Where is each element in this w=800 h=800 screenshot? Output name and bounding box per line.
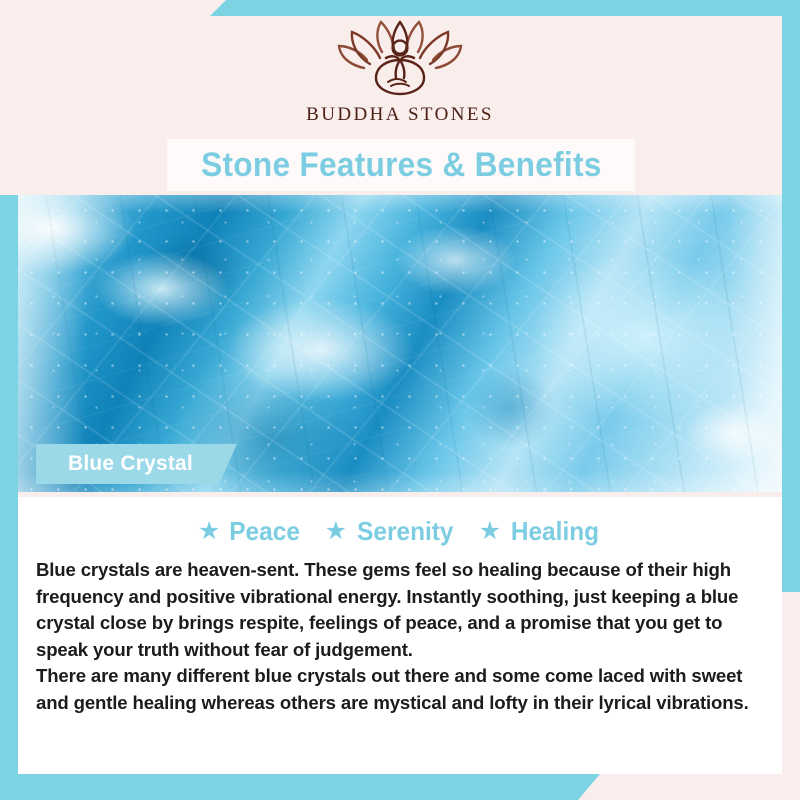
page-title: Stone Features & Benefits: [201, 146, 602, 185]
benefit-item-healing: ★ Healing: [479, 516, 602, 547]
description-paragraph-2: There are many different blue crystals o…: [36, 663, 764, 716]
decorative-strip-left: [0, 195, 18, 800]
star-icon: ★: [325, 519, 347, 544]
benefit-item-peace: ★ Peace: [198, 516, 303, 547]
lotus-meditation-figure-icon: [334, 18, 466, 100]
decorative-strip-top: [210, 0, 800, 16]
description-paragraph-1: Blue crystals are heaven-sent. These gem…: [36, 557, 764, 663]
benefit-label: Serenity: [357, 516, 453, 547]
decorative-strip-bottom: [0, 774, 600, 800]
hero-crystal-image: Blue Crystal: [18, 195, 782, 492]
benefit-label: Peace: [230, 516, 301, 547]
benefit-item-serenity: ★ Serenity: [325, 516, 457, 547]
content-panel: ★ Peace ★ Serenity ★ Healing Blue crysta…: [18, 497, 782, 774]
benefits-row: ★ Peace ★ Serenity ★ Healing: [36, 511, 764, 551]
poster-canvas: BUDDHA STONES Stone Features & Benefits …: [0, 0, 800, 800]
title-band: Stone Features & Benefits: [0, 139, 800, 195]
brand-name: BUDDHA STONES: [306, 104, 494, 126]
brand-logo: BUDDHA STONES: [0, 18, 800, 140]
star-icon: ★: [479, 519, 501, 544]
title-card: Stone Features & Benefits: [167, 139, 635, 191]
stone-name-tag: Blue Crystal: [36, 444, 237, 484]
description-block: Blue crystals are heaven-sent. These gem…: [36, 557, 764, 716]
star-icon: ★: [198, 519, 220, 544]
benefit-label: Healing: [511, 516, 599, 547]
stone-name-label: Blue Crystal: [68, 452, 193, 476]
